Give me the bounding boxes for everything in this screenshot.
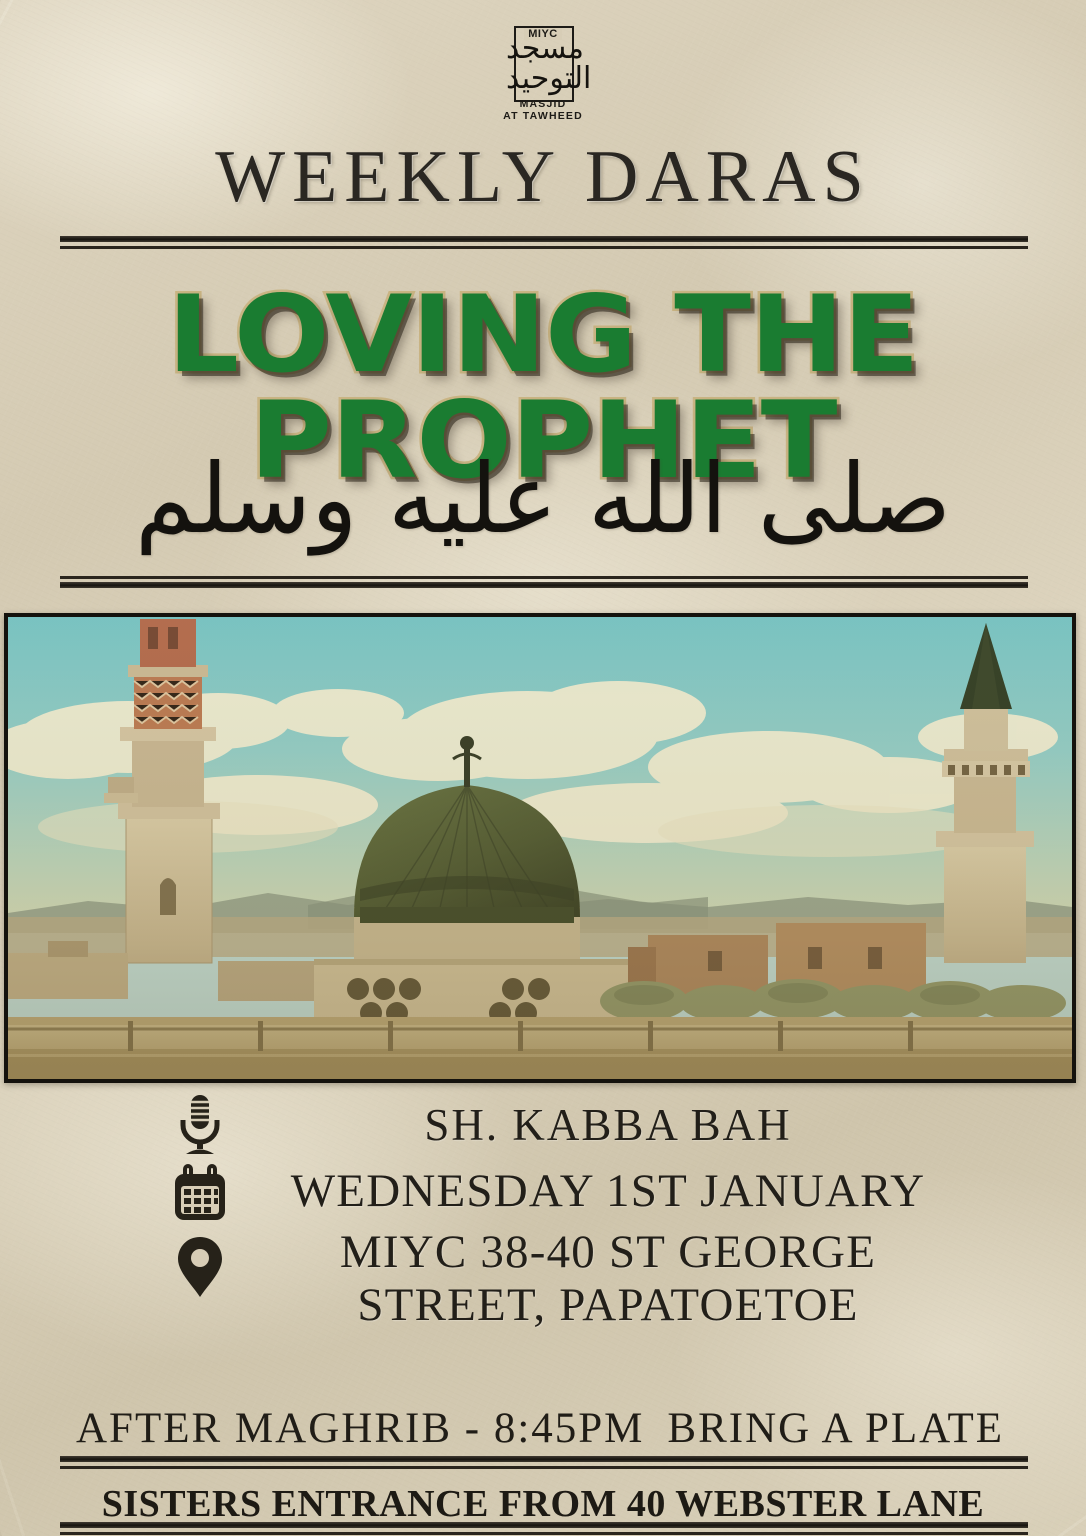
sisters-entrance-note: SISTERS ENTRANCE FROM 40 WEBSTER LANE (0, 1482, 1086, 1526)
logo-mark-text: MIYC (524, 28, 562, 40)
divider-above-sisters (60, 1456, 1028, 1470)
speaker-name: SH. KABBA BAH (250, 1100, 1086, 1150)
venue-address: MIYC 38-40 ST GEORGE STREET, PAPATOETOE (250, 1226, 1086, 1331)
event-details: SH. KABBA BAH (0, 1094, 1086, 1335)
divider-bottom (60, 1522, 1028, 1536)
calendar-icon (150, 1164, 250, 1222)
arabic-honorific: صلى الله عليه وسلم (0, 430, 1086, 569)
logo-arabic-calligraphy: مسجد التوحيد (506, 34, 580, 94)
event-date: WEDNESDAY 1ST JANUARY (250, 1165, 1086, 1218)
mosque-photo (4, 613, 1076, 1083)
bring-a-plate-note: BRING A PLATE (667, 1404, 1020, 1453)
event-time: AFTER MAGHRIB - 8:45PM (70, 1404, 644, 1453)
mosque-illustration (8, 617, 1072, 1079)
venue-line-1: MIYC 38-40 ST GEORGE (340, 1226, 876, 1278)
logo-name: MASJID AT TAWHEED (500, 98, 586, 122)
location-pin-icon (150, 1236, 250, 1298)
footer-info: AFTER MAGHRIB - 8:45PM BRING A PLATE (70, 1404, 1020, 1453)
divider-below-title (60, 576, 1028, 590)
detail-date: WEDNESDAY 1ST JANUARY (0, 1160, 1086, 1222)
detail-speaker: SH. KABBA BAH (0, 1094, 1086, 1156)
poster: مسجد التوحيد MIYC MASJID AT TAWHEED WEEK… (0, 0, 1086, 1536)
logo-name-line1: MASJID (520, 98, 567, 110)
detail-venue: MIYC 38-40 ST GEORGE STREET, PAPATOETOE (0, 1226, 1086, 1331)
divider-top (60, 236, 1028, 250)
masjid-logo: مسجد التوحيد MIYC MASJID AT TAWHEED (0, 16, 1086, 120)
kicker-title: WEEKLY DARAS (0, 140, 1086, 214)
venue-line-2: STREET, PAPATOETOE (357, 1279, 858, 1331)
microphone-icon (150, 1094, 250, 1156)
logo-name-line2: AT TAWHEED (503, 110, 583, 122)
